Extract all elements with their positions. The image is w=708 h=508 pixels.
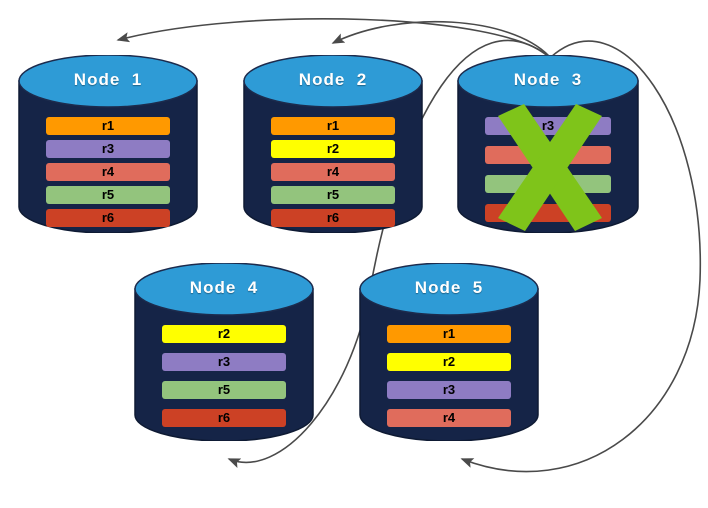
replica-row[interactable]: r4 [271,163,395,181]
node-4-rows: r2r3r5r6 [134,325,314,437]
replica-row[interactable]: r5 [162,381,286,399]
node-3-rows: r3 [457,117,639,233]
replica-row[interactable]: r6 [162,409,286,427]
diagram-canvas: Node 1r1r3r4r5r6Node 2r1r2r4r5r6Node 3r3… [0,0,708,508]
replica-row[interactable]: r5 [271,186,395,204]
replica-row[interactable]: r5 [46,186,170,204]
replica-row[interactable]: r3 [46,140,170,158]
node-5[interactable]: Node 5r1r2r3r4 [359,263,539,441]
replica-row[interactable]: r6 [271,209,395,227]
replica-row[interactable]: r1 [271,117,395,135]
node-5-title: Node 5 [359,278,539,298]
node-1-title: Node 1 [18,70,198,90]
node-2[interactable]: Node 2r1r2r4r5r6 [243,55,423,233]
node-2-title: Node 2 [243,70,423,90]
replica-row[interactable]: r1 [387,325,511,343]
replica-row[interactable]: r6 [46,209,170,227]
replica-row[interactable]: r2 [387,353,511,371]
node-5-rows: r1r2r3r4 [359,325,539,437]
node-1-rows: r1r3r4r5r6 [18,117,198,232]
node-4-title: Node 4 [134,278,314,298]
replica-row[interactable]: r3 [162,353,286,371]
replica-row[interactable] [485,204,611,222]
edge-node3-to-node1 [118,19,548,56]
replica-row[interactable] [485,146,611,164]
node-2-rows: r1r2r4r5r6 [243,117,423,232]
replica-row[interactable] [485,175,611,193]
node-3-title: Node 3 [457,70,639,90]
replica-row[interactable]: r2 [271,140,395,158]
edge-node3-to-node2 [333,22,549,56]
replica-row[interactable]: r3 [485,117,611,135]
node-3[interactable]: Node 3r3 [457,55,639,233]
node-4[interactable]: Node 4r2r3r5r6 [134,263,314,441]
replica-row[interactable]: r4 [46,163,170,181]
node-1[interactable]: Node 1r1r3r4r5r6 [18,55,198,233]
replica-row[interactable]: r3 [387,381,511,399]
replica-row[interactable]: r4 [387,409,511,427]
replica-row[interactable]: r1 [46,117,170,135]
replica-row[interactable]: r2 [162,325,286,343]
